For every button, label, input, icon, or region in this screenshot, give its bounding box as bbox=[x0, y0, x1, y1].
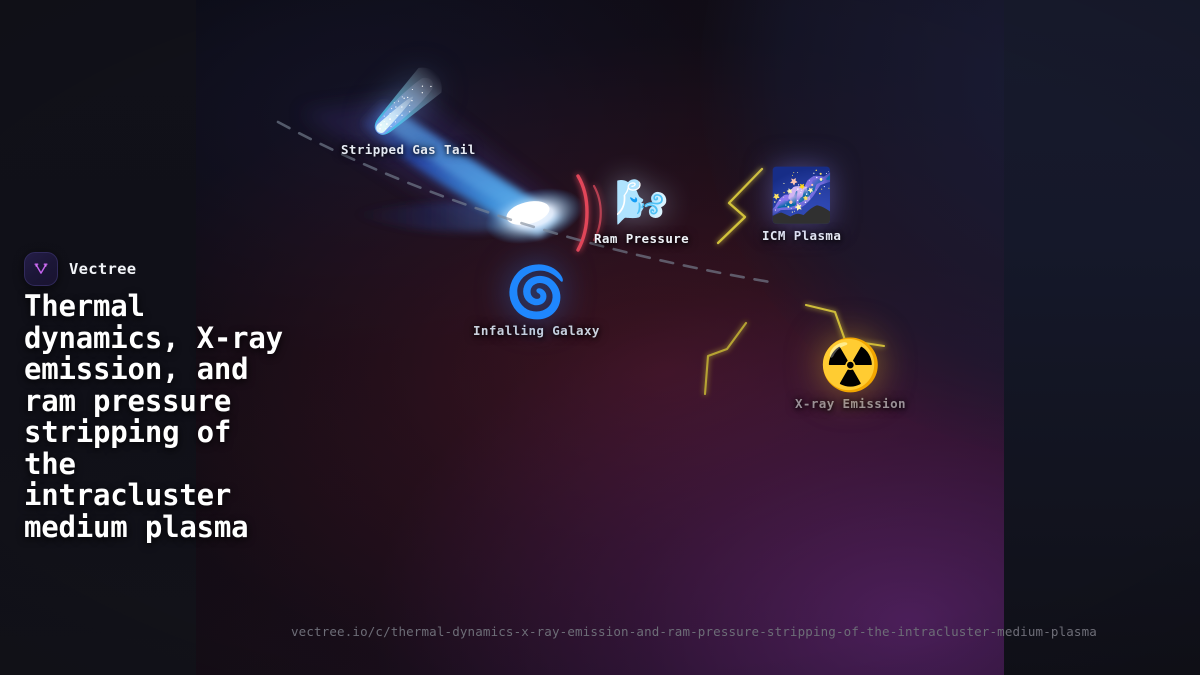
radioactive-icon: ☢️ bbox=[819, 340, 881, 390]
milky-way-icon: 🌌 bbox=[769, 170, 834, 222]
cyclone-icon: 🌀 bbox=[505, 267, 567, 317]
diagram-node-label: Ram Pressure bbox=[594, 231, 689, 246]
diagram-node-label: Infalling Galaxy bbox=[473, 323, 600, 338]
share-card: ☄️ Stripped Gas Tail 🌬️ Ram Pressure 🌀 I… bbox=[0, 0, 1200, 675]
diagram-node-label: X-ray Emission bbox=[795, 396, 906, 411]
wind-face-icon: 🌬️ bbox=[614, 181, 669, 225]
diagram-node-infalling-galaxy[interactable]: 🌀 Infalling Galaxy bbox=[473, 267, 600, 338]
x-ray-bolt-upper bbox=[718, 169, 762, 243]
comet-icon: ☄️ bbox=[372, 72, 444, 130]
vectree-logo-icon bbox=[24, 252, 58, 286]
brand-name: Vectree bbox=[69, 260, 136, 278]
diagram-node-icm-plasma[interactable]: 🌌 ICM Plasma bbox=[762, 170, 841, 243]
diagram-node-x-ray-emission[interactable]: ☢️ X-ray Emission bbox=[795, 340, 906, 411]
footer-url: vectree.io/c/thermal-dynamics-x-ray-emis… bbox=[291, 624, 1097, 639]
diagram-node-label: ICM Plasma bbox=[762, 228, 841, 243]
diagram-node-stripped-gas-tail[interactable]: ☄️ Stripped Gas Tail bbox=[341, 72, 476, 157]
brand[interactable]: Vectree bbox=[24, 252, 136, 286]
diagram-node-label: Stripped Gas Tail bbox=[341, 142, 476, 157]
page-title: Thermal dynamics, X-ray emission, and ra… bbox=[24, 291, 296, 543]
diagram-node-ram-pressure[interactable]: 🌬️ Ram Pressure bbox=[594, 181, 689, 246]
x-ray-bolt-lower-left bbox=[705, 323, 746, 394]
